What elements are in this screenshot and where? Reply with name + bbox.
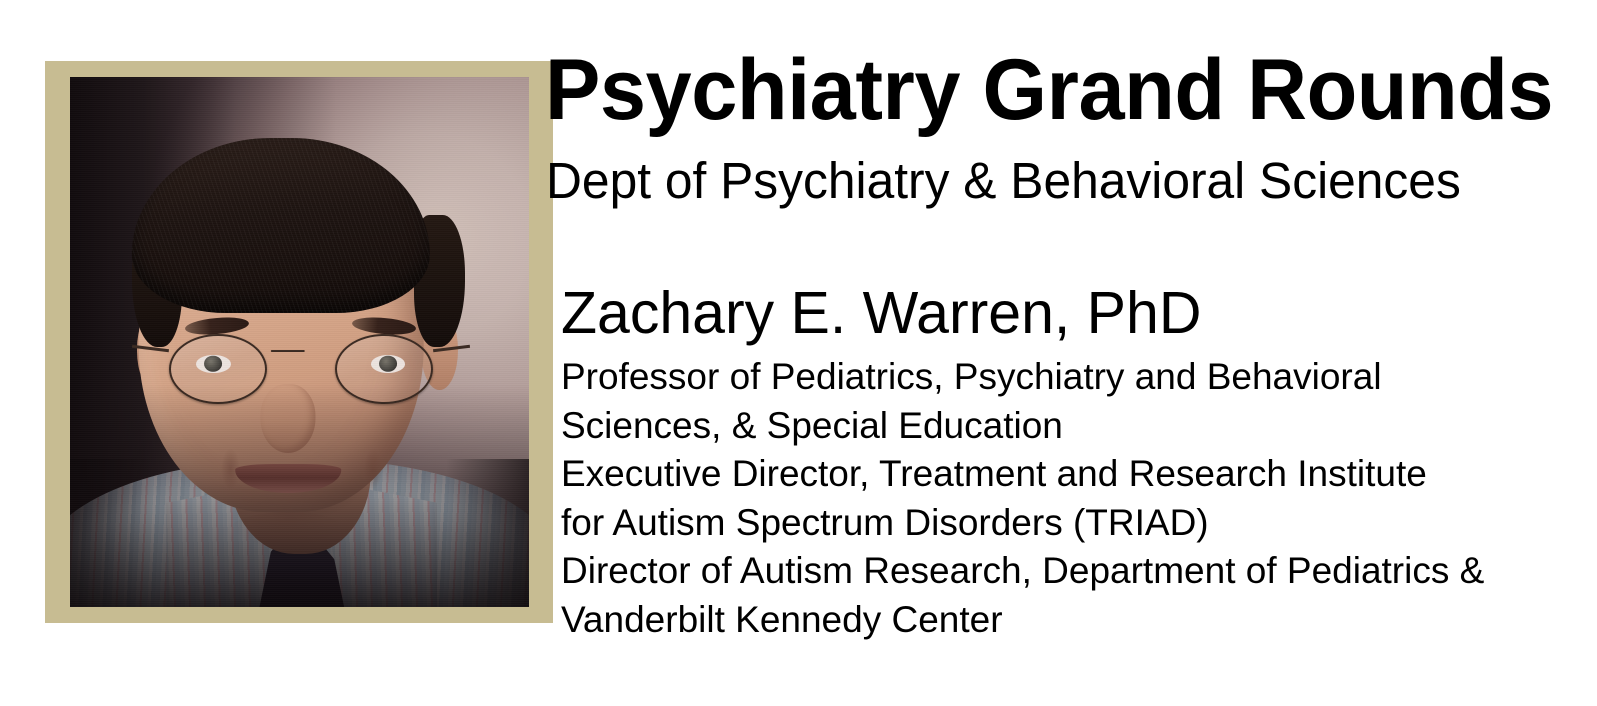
credential-line: Executive Director, Treatment and Resear… [561, 450, 1484, 499]
speaker-photo [70, 77, 529, 607]
credential-line: Director of Autism Research, Department … [561, 547, 1484, 596]
credential-line: Sciences, & Special Education [561, 402, 1484, 451]
page-title: Psychiatry Grand Rounds [545, 47, 1553, 133]
slide-root: Psychiatry Grand Rounds Dept of Psychiat… [0, 0, 1597, 706]
speaker-credentials: Professor of Pediatrics, Psychiatry and … [561, 353, 1484, 644]
portrait-frame [45, 61, 553, 623]
photo-vignette [70, 77, 529, 607]
speaker-name: Zachary E. Warren, PhD [561, 284, 1201, 343]
text-column: Psychiatry Grand Rounds Dept of Psychiat… [541, 0, 1597, 706]
credential-line: for Autism Spectrum Disorders (TRIAD) [561, 499, 1484, 548]
department-subtitle: Dept of Psychiatry & Behavioral Sciences [546, 155, 1461, 206]
credential-line: Vanderbilt Kennedy Center [561, 596, 1484, 645]
credential-line: Professor of Pediatrics, Psychiatry and … [561, 353, 1484, 402]
